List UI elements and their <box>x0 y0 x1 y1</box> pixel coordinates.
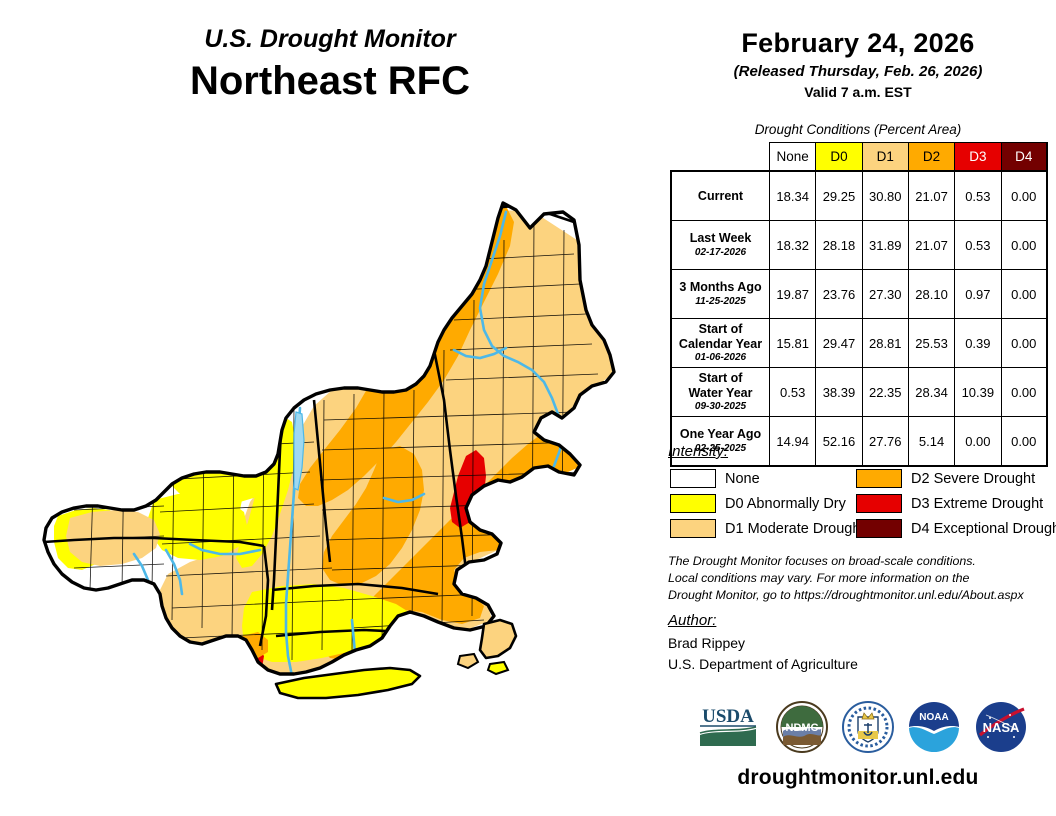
map-cape-cod <box>480 620 516 658</box>
usda-logo: USDA <box>694 702 762 752</box>
table-cell-d4: 0.00 <box>1001 221 1047 270</box>
table-row: Start ofCalendar Year01-06-202615.8129.4… <box>671 319 1047 368</box>
table-cell-d3: 10.39 <box>955 368 1001 417</box>
svg-text:USDA: USDA <box>702 706 754 727</box>
legend-swatch-right-1 <box>856 494 902 513</box>
table-cell-d0: 52.16 <box>816 417 862 467</box>
legend-label: D2 Severe Drought <box>911 471 1035 487</box>
table-cell-d4: 0.00 <box>1001 319 1047 368</box>
table-cell-none: 19.87 <box>770 270 816 319</box>
table-cell-d2: 21.07 <box>908 221 954 270</box>
disclaimer-text: The Drought Monitor focuses on broad-sca… <box>668 553 1056 604</box>
table-cell-none: 15.81 <box>770 319 816 368</box>
legend-label: None <box>725 471 760 487</box>
table-row-label: 3 Months Ago11-25-2025 <box>671 270 770 319</box>
table-corner-cell <box>671 143 770 172</box>
table-cell-d4: 0.00 <box>1001 171 1047 221</box>
agency-logos: USDA NDMC NOAA <box>660 694 1056 760</box>
legend-label: D3 Extreme Drought <box>911 496 1043 512</box>
table-cell-d1: 27.76 <box>862 417 908 467</box>
info-panel: February 24, 2026 (Released Thursday, Fe… <box>660 0 1056 816</box>
table-col-header-d3: D3 <box>955 143 1001 172</box>
table-cell-none: 18.34 <box>770 171 816 221</box>
table-cell-d0: 28.18 <box>816 221 862 270</box>
table-cell-d2: 28.10 <box>908 270 954 319</box>
table-cell-d3: 0.53 <box>955 171 1001 221</box>
disclaimer-line-1: The Drought Monitor focuses on broad-sca… <box>668 553 1056 570</box>
table-cell-d2: 25.53 <box>908 319 954 368</box>
legend-item: D4 Exceptional Drought <box>856 516 1056 541</box>
drought-conditions-table: NoneD0D1D2D3D4 Current18.3429.2530.8021.… <box>670 142 1048 467</box>
table-cell-d2: 5.14 <box>908 417 954 467</box>
table-cell-d0: 23.76 <box>816 270 862 319</box>
legend-swatch-right-2 <box>856 519 902 538</box>
legend-label: D4 Exceptional Drought <box>911 521 1056 537</box>
table-col-header-d0: D0 <box>816 143 862 172</box>
author-heading: Author: <box>668 612 716 629</box>
svg-text:NASA: NASA <box>983 720 1020 735</box>
table-col-header-none: None <box>770 143 816 172</box>
table-row: 3 Months Ago11-25-202519.8723.7627.3028.… <box>671 270 1047 319</box>
svg-text:NOAA: NOAA <box>919 712 948 723</box>
table-cell-none: 18.32 <box>770 221 816 270</box>
table-row-label: Start ofCalendar Year01-06-2026 <box>671 319 770 368</box>
nasa-logo: NASA <box>974 701 1028 753</box>
map-nantucket <box>488 662 508 674</box>
table-row: Current18.3429.2530.8021.070.530.00 <box>671 171 1047 221</box>
disclaimer-line-2: Local conditions may vary. For more info… <box>668 570 1056 587</box>
table-row-date: 02-17-2026 <box>675 247 766 259</box>
legend-label: D0 Abnormally Dry <box>725 496 846 512</box>
valid-time: Valid 7 a.m. EST <box>660 84 1056 100</box>
legend-swatch-left-0 <box>670 469 716 488</box>
legend-item: D3 Extreme Drought <box>856 491 1056 516</box>
table-cell-d4: 0.00 <box>1001 270 1047 319</box>
legend-column-left: NoneD0 Abnormally DryD1 Moderate Drought <box>670 466 864 541</box>
table-cell-d0: 29.25 <box>816 171 862 221</box>
author-block: Brad Rippey U.S. Department of Agricultu… <box>668 633 858 674</box>
table-cell-none: 14.94 <box>770 417 816 467</box>
table-row-date: 11-25-2025 <box>675 296 766 308</box>
table-row-date: 01-06-2026 <box>675 352 766 364</box>
table-row: Last Week02-17-202618.3228.1831.8921.070… <box>671 221 1047 270</box>
table-cell-d1: 28.81 <box>862 319 908 368</box>
table-row: Start ofWater Year09-30-20250.5338.3922.… <box>671 368 1047 417</box>
legend-item: D1 Moderate Drought <box>670 516 864 541</box>
table-cell-d4: 0.00 <box>1001 368 1047 417</box>
table-cell-d3: 0.53 <box>955 221 1001 270</box>
usdc-noaa-seal-logo <box>842 701 894 753</box>
author-affiliation: U.S. Department of Agriculture <box>668 654 858 675</box>
map-marthas-vineyard <box>458 654 478 668</box>
title-block: U.S. Drought Monitor Northeast RFC <box>0 26 660 104</box>
svg-text:NDMC: NDMC <box>786 722 819 734</box>
legend-swatch-left-2 <box>670 519 716 538</box>
table-caption: Drought Conditions (Percent Area) <box>660 122 1056 137</box>
table-row-label: Start ofWater Year09-30-2025 <box>671 368 770 417</box>
table-cell-d0: 29.47 <box>816 319 862 368</box>
table-cell-d3: 0.00 <box>955 417 1001 467</box>
author-name: Brad Rippey <box>668 633 858 654</box>
ndmc-logo: NDMC <box>776 701 828 753</box>
noaa-logo: NOAA <box>908 701 960 753</box>
table-cell-d3: 0.39 <box>955 319 1001 368</box>
drought-map[interactable] <box>14 150 660 730</box>
legend-heading: Intensity: <box>668 443 728 460</box>
map-drought-layers <box>14 150 660 730</box>
table-col-header-d1: D1 <box>862 143 908 172</box>
map-panel: U.S. Drought Monitor Northeast RFC <box>0 0 660 816</box>
page-title: Northeast RFC <box>0 58 660 104</box>
table-cell-d3: 0.97 <box>955 270 1001 319</box>
table-row-date: 09-30-2025 <box>675 401 766 413</box>
table-col-header-d2: D2 <box>908 143 954 172</box>
table-cell-none: 0.53 <box>770 368 816 417</box>
legend-label: D1 Moderate Drought <box>725 521 864 537</box>
page-subtitle: U.S. Drought Monitor <box>0 26 660 54</box>
report-date: February 24, 2026 <box>660 28 1056 59</box>
website-url[interactable]: droughtmonitor.unl.edu <box>660 766 1056 790</box>
legend-item: None <box>670 466 864 491</box>
table-col-header-d4: D4 <box>1001 143 1047 172</box>
table-cell-d2: 21.07 <box>908 171 954 221</box>
legend-swatch-left-1 <box>670 494 716 513</box>
table-cell-d0: 38.39 <box>816 368 862 417</box>
table-cell-d1: 30.80 <box>862 171 908 221</box>
disclaimer-line-3: Drought Monitor, go to https://droughtmo… <box>668 587 1056 604</box>
table-cell-d1: 22.35 <box>862 368 908 417</box>
legend-item: D0 Abnormally Dry <box>670 491 864 516</box>
table-row-label: Current <box>671 171 770 221</box>
table-header-row: NoneD0D1D2D3D4 <box>671 143 1047 172</box>
legend-column-right: D2 Severe DroughtD3 Extreme DroughtD4 Ex… <box>856 466 1056 541</box>
table-cell-d1: 27.30 <box>862 270 908 319</box>
release-date: (Released Thursday, Feb. 26, 2026) <box>660 63 1056 80</box>
table-cell-d4: 0.00 <box>1001 417 1047 467</box>
table-row-label: Last Week02-17-2026 <box>671 221 770 270</box>
table-header: NoneD0D1D2D3D4 <box>671 143 1047 172</box>
table-cell-d1: 31.89 <box>862 221 908 270</box>
drought-map-svg[interactable] <box>14 150 660 730</box>
table-cell-d2: 28.34 <box>908 368 954 417</box>
table-body: Current18.3429.2530.8021.070.530.00Last … <box>671 171 1047 466</box>
date-block: February 24, 2026 (Released Thursday, Fe… <box>660 28 1056 100</box>
legend-swatch-right-0 <box>856 469 902 488</box>
legend-item: D2 Severe Drought <box>856 466 1056 491</box>
